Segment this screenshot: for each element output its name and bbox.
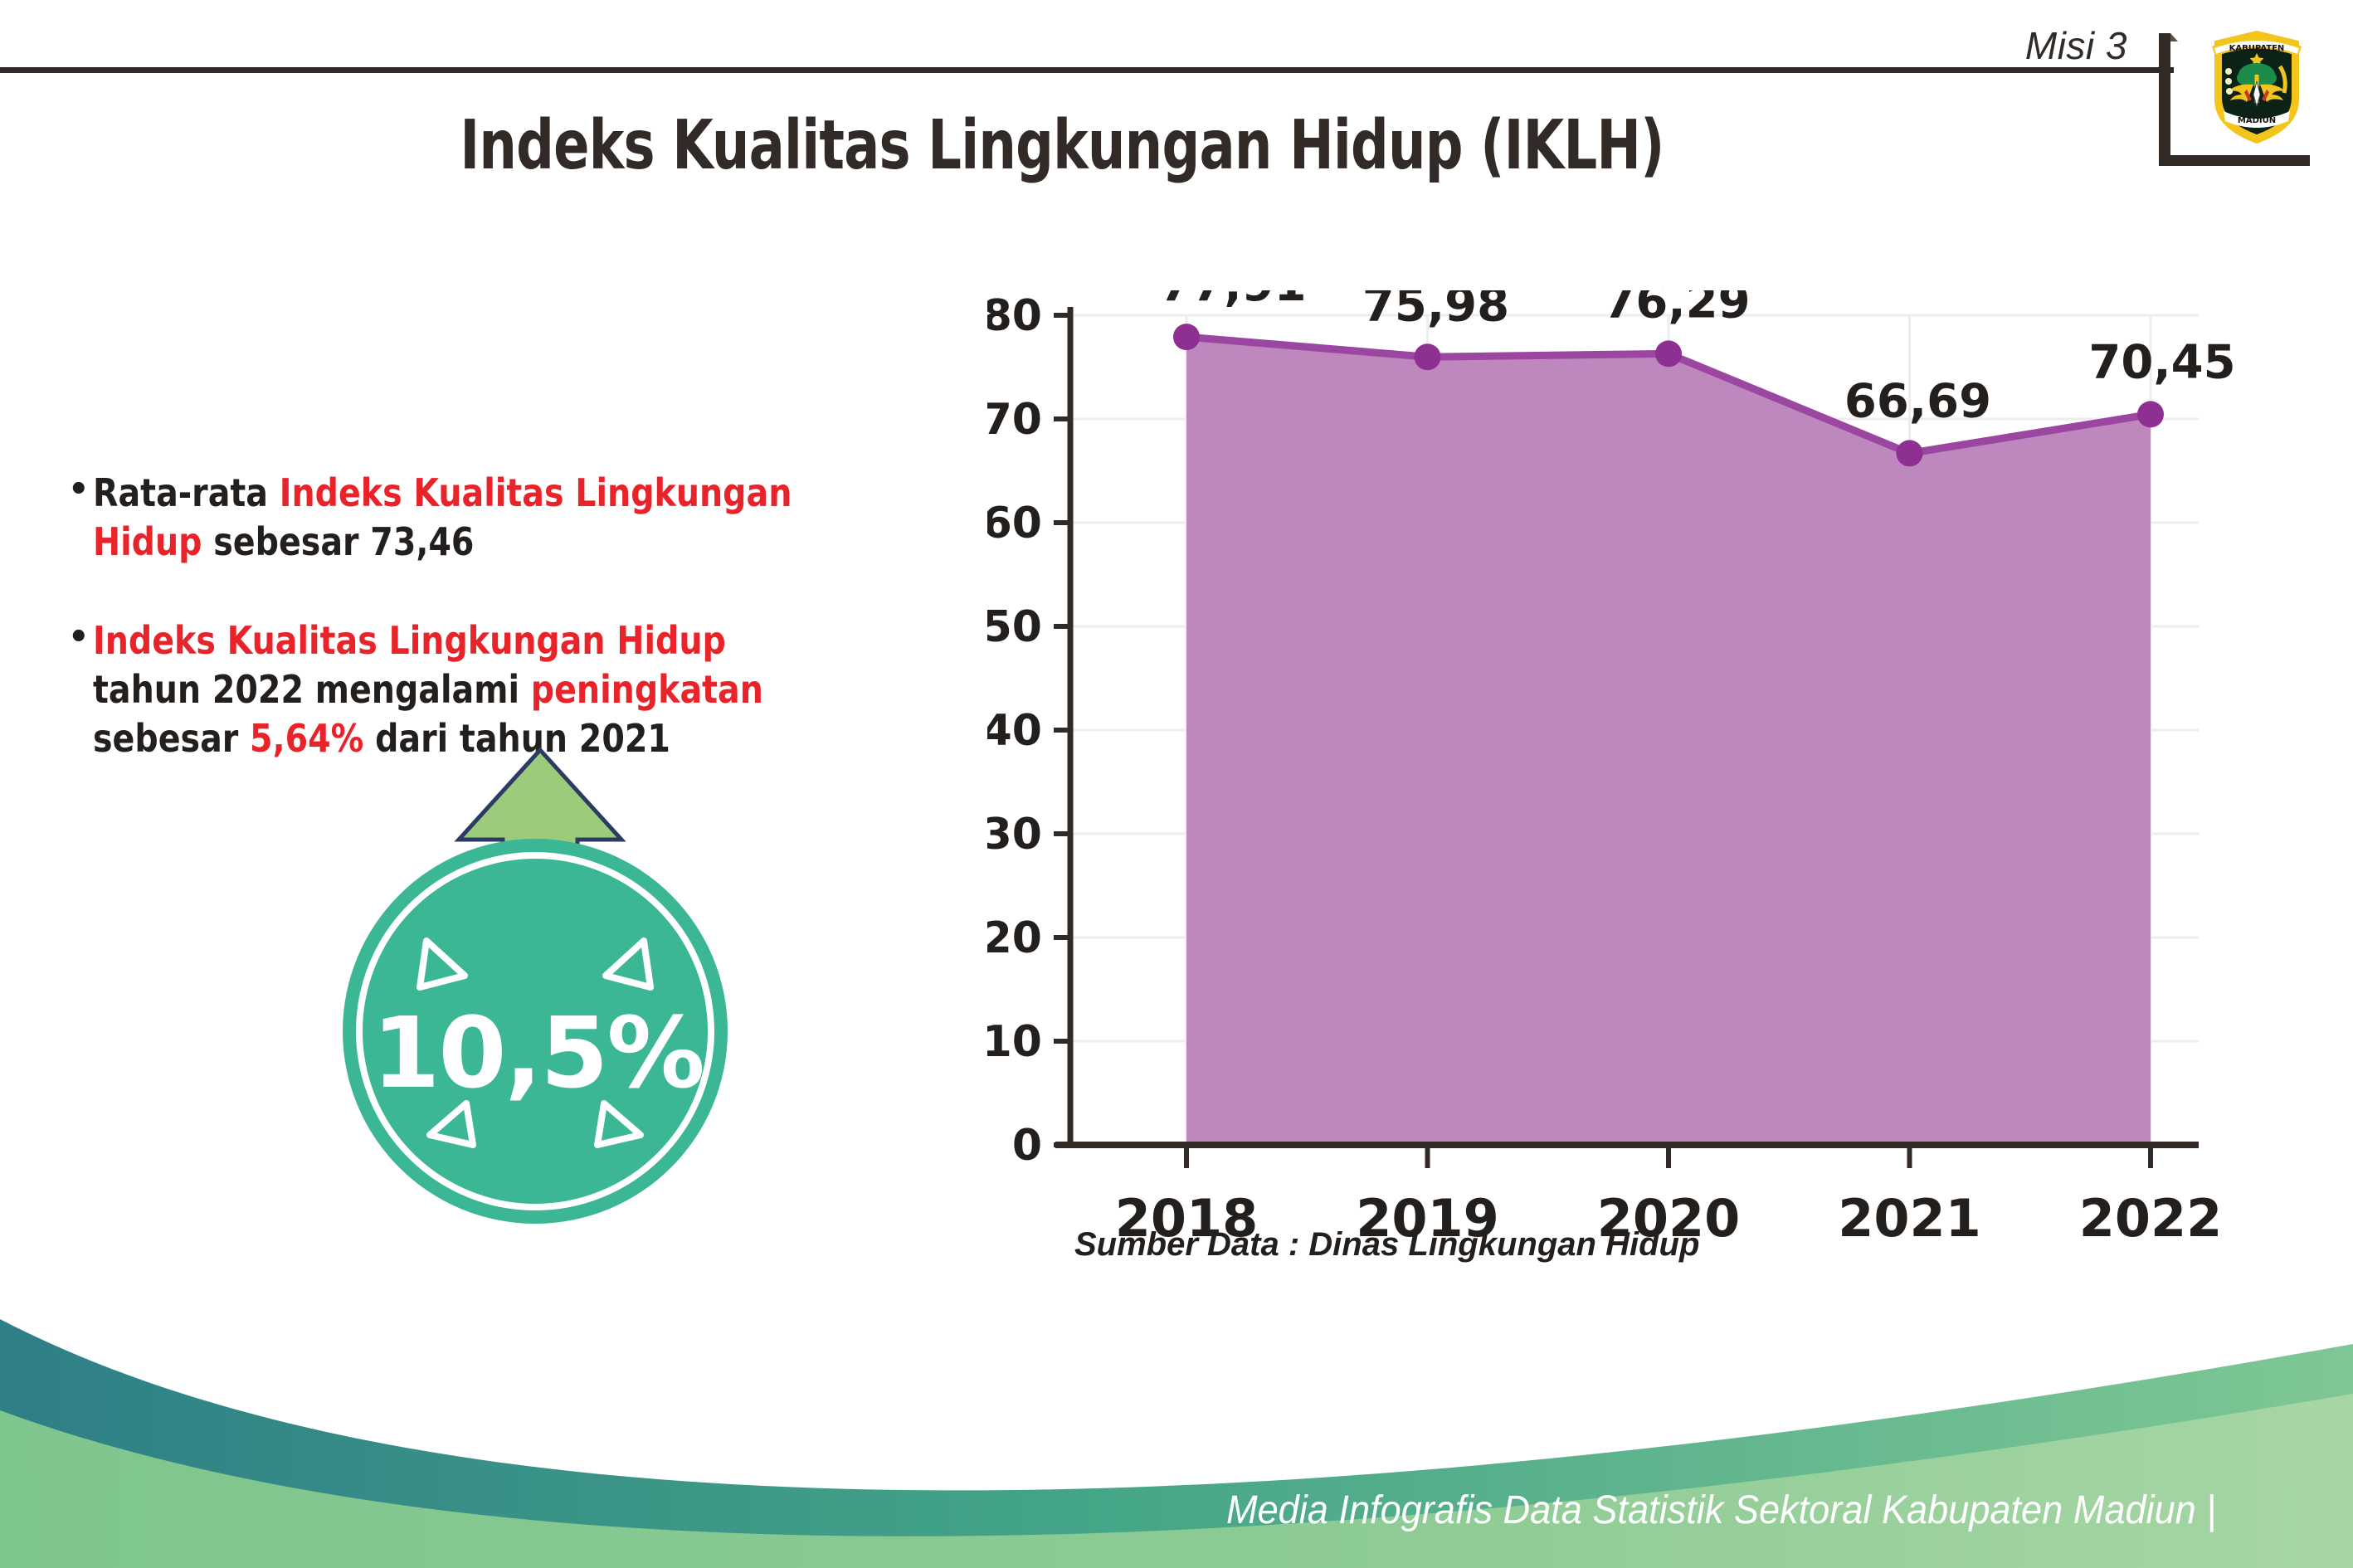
data-point-label: 77,91 <box>1159 290 1306 312</box>
bracket-vertical <box>2159 33 2170 166</box>
bullet-highlight: peningkatan <box>530 667 762 712</box>
crest-top-label: KABUPATEN <box>2229 44 2285 53</box>
footer-caption: Media Infografis Data Statistik Sektoral… <box>1226 1488 2216 1533</box>
badge-percent-label: 10,5% <box>330 996 745 1110</box>
y-tick-label: 30 <box>987 810 1042 859</box>
page-title: Indeks Kualitas Lingkungan Hidup (IKLH) <box>234 106 1891 185</box>
y-tick-label: 0 <box>1012 1121 1042 1171</box>
bullet-dot: • <box>68 469 90 511</box>
data-point-label: 75,98 <box>1362 290 1509 332</box>
kabupaten-madiun-crest-icon: KABUPATEN MADIUN <box>2205 23 2308 148</box>
data-point-label: 76,29 <box>1603 290 1750 329</box>
bullet-plain: tahun 2022 mengalami <box>93 667 531 712</box>
bracket-horizontal <box>2159 155 2310 166</box>
data-point-marker <box>1897 440 1923 466</box>
misi-label: Misi 3 <box>2025 23 2127 68</box>
chart-canvas: 010203040506070802018201920202021202277,… <box>987 290 2282 1327</box>
data-point-marker <box>1173 324 1200 350</box>
bullet-plain: sebesar <box>93 716 250 761</box>
crest-bottom-label: MADIUN <box>2238 116 2276 125</box>
x-tick-label: 2021 <box>1838 1188 1981 1249</box>
data-point-marker <box>1415 343 1441 370</box>
header-divider <box>0 67 2174 73</box>
bullet-text: Rata-rata Indeks Kualitas Lingkungan Hid… <box>93 469 828 567</box>
list-item: • Indeks Kualitas Lingkungan Hidup tahun… <box>68 616 948 763</box>
bullet-highlight: Indeks Kualitas Lingkungan Hidup <box>93 618 726 663</box>
list-item: • Rata-rata Indeks Kualitas Lingkungan H… <box>68 469 948 567</box>
data-point-marker <box>1655 340 1682 367</box>
bullet-plain: Rata-rata <box>93 470 280 515</box>
bullet-plain: sebesar 73,46 <box>202 519 474 564</box>
y-tick-label: 10 <box>987 1017 1042 1067</box>
data-point-marker <box>2137 401 2164 427</box>
chart-source-note: Sumber Data : Dinas Lingkungan Hidup <box>1074 1226 1699 1264</box>
y-tick-label: 40 <box>987 706 1042 756</box>
y-tick-label: 20 <box>987 913 1042 963</box>
data-point-label: 70,45 <box>2088 335 2235 389</box>
area-fill <box>1186 337 2151 1145</box>
bullet-text: Indeks Kualitas Lingkungan Hidup tahun 2… <box>93 616 828 763</box>
x-tick-label: 2022 <box>2079 1188 2223 1249</box>
infographic-page: Misi 3 KABUPATEN <box>0 0 2353 1568</box>
y-tick-label: 70 <box>987 395 1042 445</box>
y-tick-label: 80 <box>987 291 1042 341</box>
y-tick-label: 60 <box>987 499 1042 548</box>
bullet-dot: • <box>68 616 90 659</box>
iklh-area-chart: 010203040506070802018201920202021202277,… <box>987 290 2282 1327</box>
increase-badge: 10,5% <box>330 747 745 1211</box>
data-point-label: 66,69 <box>1844 374 1991 428</box>
y-tick-label: 50 <box>987 602 1042 652</box>
